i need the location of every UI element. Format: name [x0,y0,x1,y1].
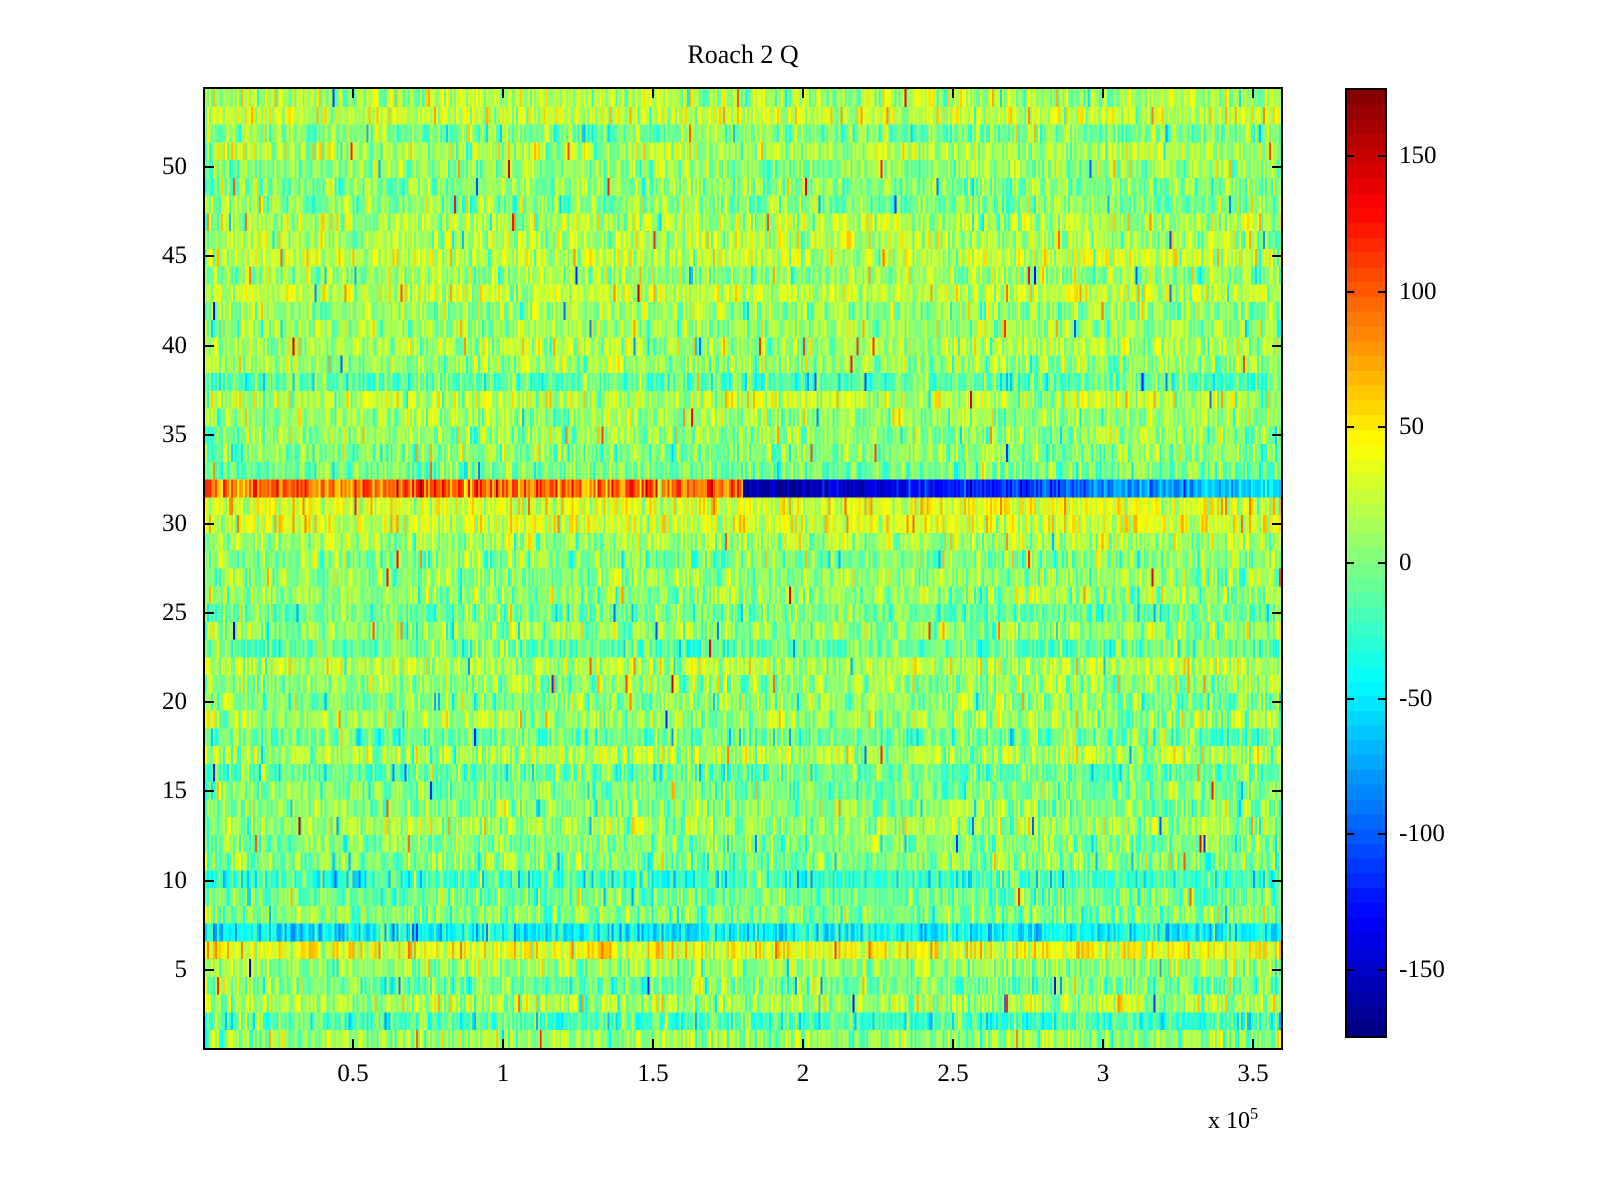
colorbar-tick-label: 0 [1399,549,1412,577]
colorbar-tick-left [1346,155,1354,157]
x-axis-tick-label: 3.5 [1237,1060,1268,1088]
y-axis-tick [204,880,214,882]
x-axis-tick-label: 1.5 [637,1060,668,1088]
y-axis-tick-right [1272,345,1282,347]
x-axis-tick-label: 1 [497,1060,510,1088]
x-axis-tick [1252,1039,1254,1049]
y-axis-tick-label: 20 [125,688,187,716]
y-axis-tick-right [1272,166,1282,168]
y-axis-tick-right [1272,434,1282,436]
y-axis-tick-right [1272,612,1282,614]
colorbar-tick-label: 150 [1399,142,1437,170]
y-axis-tick-label: 30 [125,510,187,538]
colorbar-tick-left [1346,562,1354,564]
x-axis-exponent-mantissa: x 10 [1208,1108,1250,1134]
y-axis-tick [204,969,214,971]
x-axis-tick [1102,1039,1104,1049]
colorbar-tick-right [1378,155,1386,157]
x-axis-tick-label: 0.5 [337,1060,368,1088]
y-axis-tick-label: 35 [125,421,187,449]
y-axis-tick-label: 5 [125,956,187,984]
x-axis-tick-top [802,88,804,98]
colorbar-tick-left [1346,833,1354,835]
colorbar-tick-label: -50 [1399,685,1432,713]
colorbar-tick-label: 50 [1399,413,1424,441]
colorbar-tick-right [1378,969,1386,971]
y-axis-tick-label: 50 [125,153,187,181]
y-axis-tick-right [1272,701,1282,703]
colorbar-tick-right [1378,833,1386,835]
y-axis-tick-right [1272,523,1282,525]
colorbar-tick-right [1378,291,1386,293]
x-axis-exponent-power: 5 [1250,1104,1258,1123]
y-axis-tick-label: 15 [125,777,187,805]
y-axis-tick [204,523,214,525]
colorbar-tick-right [1378,562,1386,564]
x-axis-tick-label: 2 [797,1060,810,1088]
y-axis-tick-right [1272,790,1282,792]
page-title: Roach 2 Q [203,40,1283,70]
x-axis-tick [352,1039,354,1049]
x-axis-tick-label: 2.5 [937,1060,968,1088]
colorbar-tick-right [1378,698,1386,700]
colorbar-tick-label: -150 [1399,956,1445,984]
x-axis-tick-top [652,88,654,98]
x-axis-tick-top [952,88,954,98]
colorbar-tick-left [1346,291,1354,293]
x-axis-tick-top [1102,88,1104,98]
colorbar-tick-label: -100 [1399,820,1445,848]
y-axis-tick-label: 25 [125,599,187,627]
x-axis-tick-top [352,88,354,98]
y-axis-tick-right [1272,969,1282,971]
y-axis-tick [204,701,214,703]
x-axis-tick-top [1252,88,1254,98]
figure-canvas: Roach 2 Q 0.511.522.533.5510152025303540… [0,0,1600,1200]
colorbar-tick-left [1346,969,1354,971]
x-axis-tick-top [502,88,504,98]
y-axis-tick [204,612,214,614]
y-axis-tick [204,166,214,168]
x-axis-exponent-label: x 105 [1208,1104,1258,1135]
x-axis-tick-label: 3 [1097,1060,1110,1088]
x-axis-tick [952,1039,954,1049]
colorbar-tick-left [1346,426,1354,428]
colorbar-tick-right [1378,426,1386,428]
y-axis-tick-right [1272,880,1282,882]
y-axis-tick [204,255,214,257]
colorbar-tick-left [1346,698,1354,700]
heatmap-image [205,89,1281,1048]
y-axis-tick [204,790,214,792]
y-axis-tick-right [1272,255,1282,257]
x-axis-tick [502,1039,504,1049]
colorbar-tick-label: 100 [1399,278,1437,306]
y-axis-tick [204,434,214,436]
y-axis-tick-label: 45 [125,242,187,270]
y-axis-tick [204,345,214,347]
x-axis-tick [652,1039,654,1049]
heatmap-axes[interactable] [203,87,1283,1050]
x-axis-tick [802,1039,804,1049]
y-axis-tick-label: 10 [125,867,187,895]
y-axis-tick-label: 40 [125,332,187,360]
